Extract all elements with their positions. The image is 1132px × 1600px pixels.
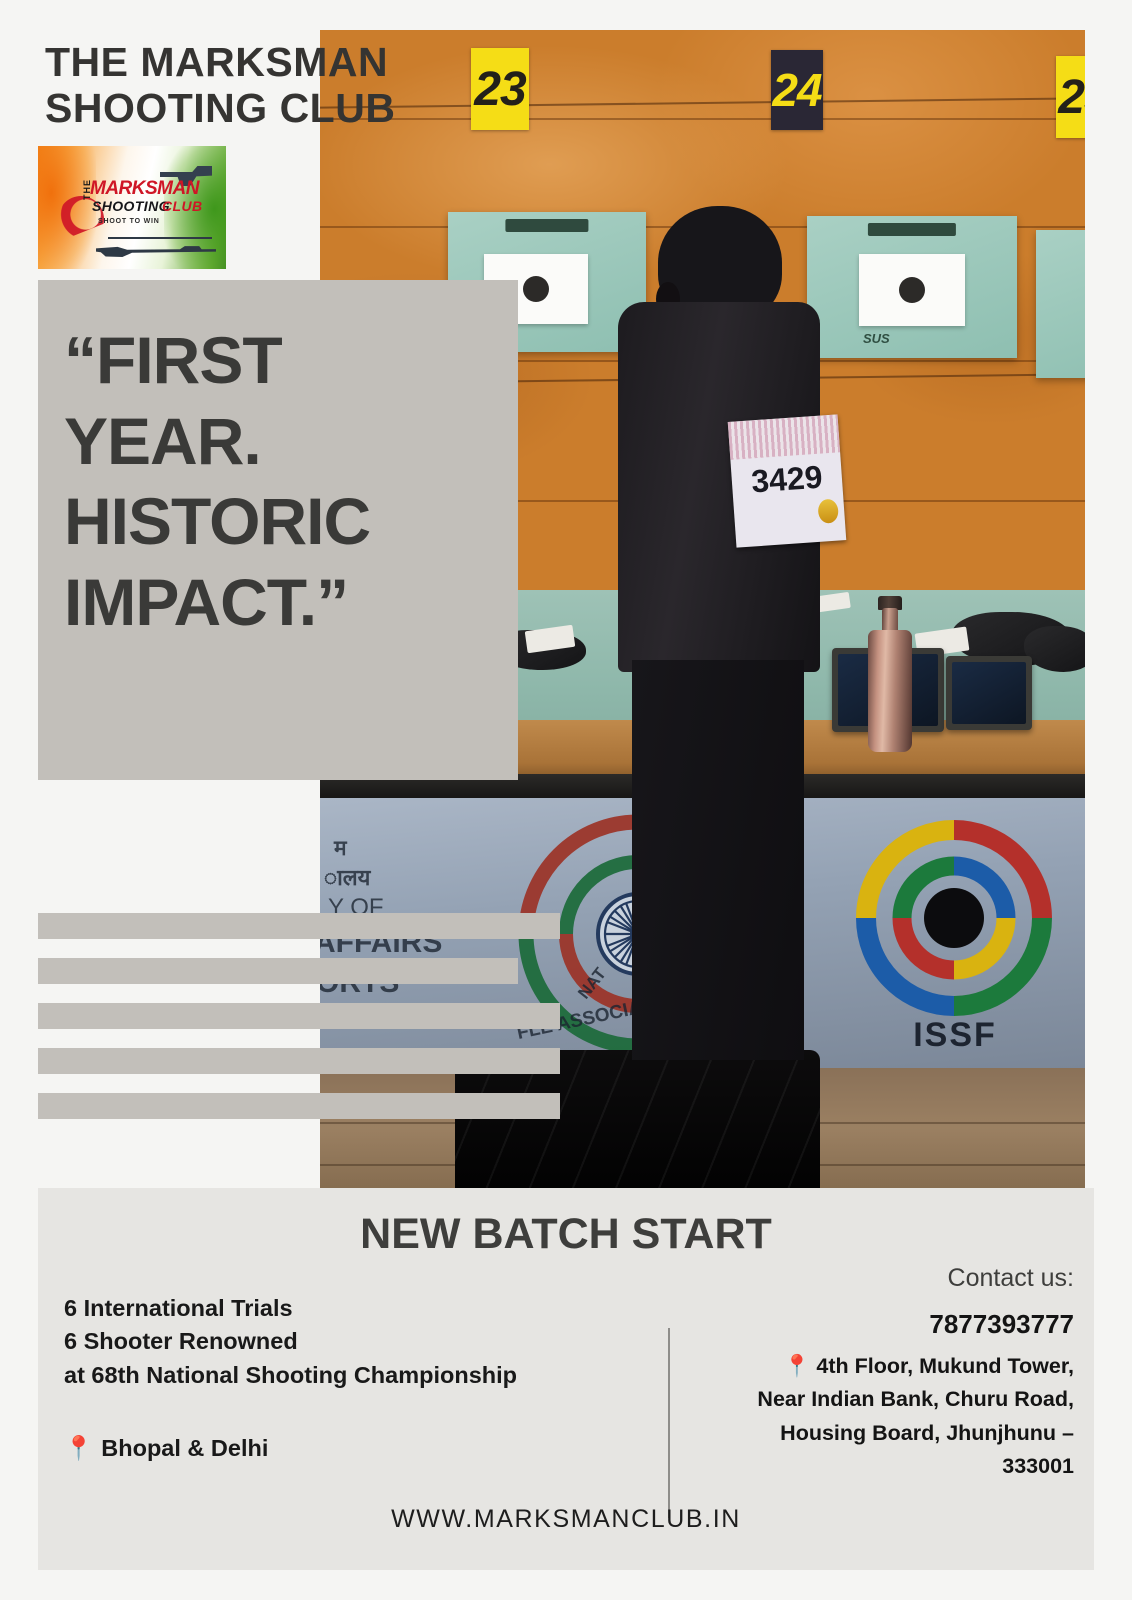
decor-stripe <box>38 1048 560 1074</box>
city-row: 📍 Bhopal & Delhi <box>64 1434 664 1462</box>
club-title: THE MARKSMAN SHOOTING CLUB <box>45 40 475 132</box>
competitor-bib: 3429 <box>728 414 847 547</box>
decor-stripe <box>38 958 518 984</box>
bib-number: 3429 <box>731 457 843 502</box>
contact-heading: Contact us: <box>674 1264 1074 1293</box>
target-tag <box>505 219 588 232</box>
logo-club-text: CLUB <box>162 198 202 214</box>
website-url[interactable]: WWW.MARKSMANCLUB.IN <box>38 1505 1094 1534</box>
monitor-screen <box>952 662 1026 724</box>
address-line-1: 4th Floor, Mukund Tower, <box>816 1354 1074 1378</box>
new-batch-headline: NEW BATCH START <box>38 1210 1094 1259</box>
bib-header-band <box>728 414 840 459</box>
city-label: Bhopal & Delhi <box>101 1435 268 1462</box>
location-pin-icon: 📍 <box>784 1354 811 1378</box>
bullseye-icon <box>523 276 549 302</box>
logo-shooting-text: SHOOTING <box>92 198 170 214</box>
highlights-column: 6 International Trials 6 Shooter Renowne… <box>64 1292 664 1462</box>
address-line-4: 333001 <box>674 1450 1074 1483</box>
club-title-line-2: SHOOTING CLUB <box>45 86 475 132</box>
address-block: 📍 4th Floor, Mukund Tower, Near Indian B… <box>674 1350 1074 1483</box>
highlight-line-2: 6 Shooter Renowned <box>64 1325 664 1358</box>
scoring-monitor <box>946 656 1032 730</box>
quote-line-2: YEAR. <box>64 401 492 482</box>
target-brand-label: SUS <box>863 331 890 346</box>
target-frame-center: SUS <box>807 216 1017 358</box>
target-tag <box>868 223 956 236</box>
issf-logo-icon <box>854 818 1054 1018</box>
highlight-line-1: 6 International Trials <box>64 1292 664 1325</box>
decor-stripe <box>38 1003 560 1029</box>
lane-number-23: 23 <box>471 48 529 130</box>
address-line-3: Housing Board, Jhunjhunu – <box>674 1417 1074 1450</box>
bullseye-icon <box>899 277 925 303</box>
issf-label: ISSF <box>913 1016 997 1055</box>
highlight-line-3: at 68th National Shooting Championship <box>64 1359 664 1392</box>
bottom-info-panel: NEW BATCH START 6 International Trials 6… <box>38 1188 1094 1570</box>
banner-hindi-text-1: म <box>334 834 347 862</box>
poster-root: 23 24 25 SUS <box>0 0 1132 1600</box>
quote-line-4: IMPACT.” <box>64 562 492 643</box>
lane-number-25: 25 <box>1056 56 1085 138</box>
contact-column: Contact us: 7877393777 📍 4th Floor, Muku… <box>674 1264 1074 1483</box>
decor-stripe <box>38 913 560 939</box>
quote-line-3: HISTORIC <box>64 481 492 562</box>
location-pin-icon: 📍 <box>64 1434 93 1462</box>
address-line-2: Near Indian Bank, Churu Road, <box>674 1383 1074 1416</box>
bib-sponsor-mark <box>817 499 839 524</box>
issf-logo-group: ISSF <box>840 818 1070 1048</box>
banner-hindi-text-2: ालय <box>324 862 370 892</box>
logo-tagline: SHOOT TO WIN <box>98 218 160 225</box>
club-title-line-1: THE MARKSMAN <box>45 40 475 86</box>
phone-number[interactable]: 7877393777 <box>674 1309 1074 1340</box>
lane-number-24: 24 <box>771 50 823 130</box>
target-frame-right <box>1036 230 1085 378</box>
quote-line-1: “FIRST <box>64 320 492 401</box>
logo-rule <box>108 237 212 239</box>
column-divider <box>668 1328 670 1518</box>
logo-marksman-text: MARKSMAN <box>90 178 199 200</box>
water-bottle <box>868 630 912 752</box>
club-logo: THE MARKSMAN SHOOTING CLUB SHOOT TO WIN <box>38 146 226 269</box>
headline-quote-box: “FIRST YEAR. HISTORIC IMPACT.” <box>38 280 518 780</box>
decor-stripe <box>38 1093 560 1119</box>
address-line-1-row: 📍 4th Floor, Mukund Tower, <box>674 1350 1074 1383</box>
paper-target <box>859 254 965 326</box>
shooter-trousers <box>632 660 804 1060</box>
